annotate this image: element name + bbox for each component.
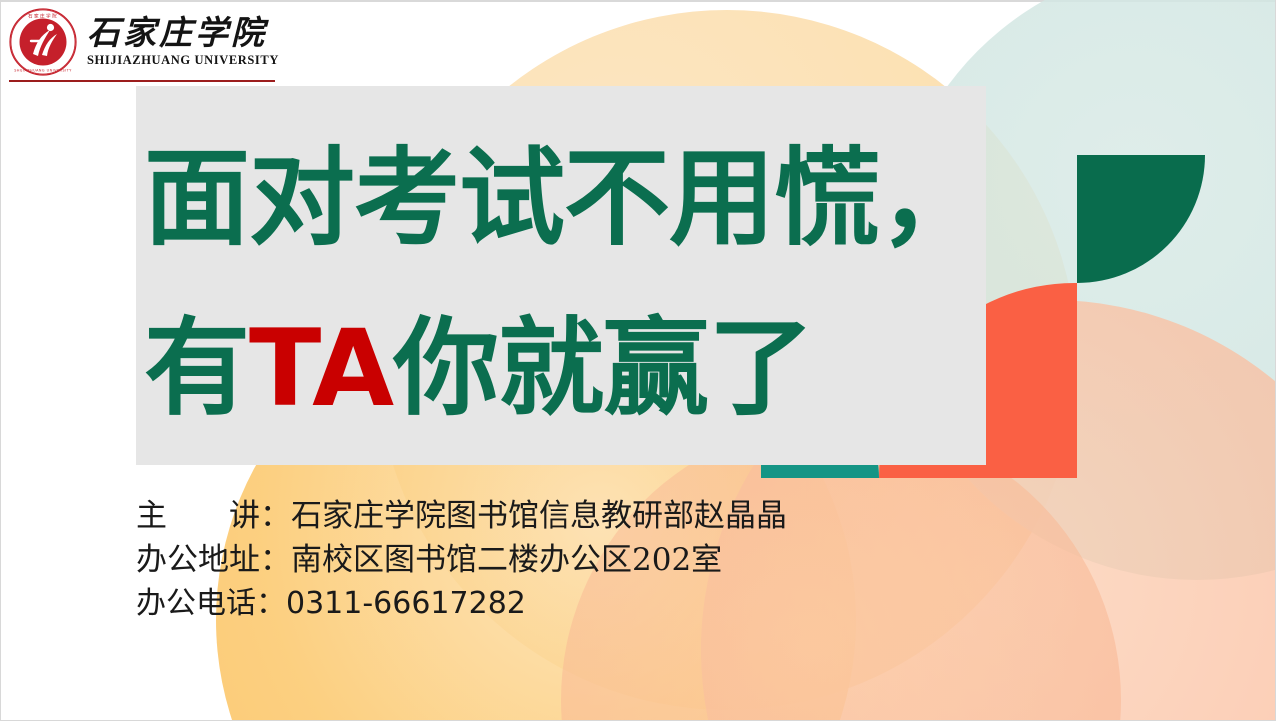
headline-suffix: 你就赢了: [393, 307, 813, 430]
university-seal-icon: 石家庄学院 SHIJIAZHUANG UNIVERSITY: [9, 8, 77, 76]
info-line-phone: 办公电话：0311-66617282: [136, 582, 996, 626]
info-line-address: 办公地址：南校区图书馆二楼办公区202室: [136, 538, 996, 582]
svg-text:SHIJIAZHUANG UNIVERSITY: SHIJIAZHUANG UNIVERSITY: [14, 69, 72, 73]
headline-line-2: 有TA你就赢了: [136, 316, 994, 422]
headline-prefix: 有: [144, 307, 249, 430]
university-name-cn: 石家庄学院: [87, 18, 279, 51]
university-wordmark: 石家庄学院 SHIJIAZHUANG UNIVERSITY: [87, 18, 279, 67]
speaker-info-block: 主 讲：石家庄学院图书馆信息教研部赵晶晶 办公地址：南校区图书馆二楼办公区202…: [136, 494, 996, 626]
university-logo: 石家庄学院 SHIJIAZHUANG UNIVERSITY 石家庄学院 SHIJ…: [9, 6, 271, 78]
info-line-speaker: 主 讲：石家庄学院图书馆信息教研部赵晶晶: [136, 494, 996, 538]
university-name-en: SHIJIAZHUANG UNIVERSITY: [87, 54, 279, 67]
decor-quarter-disc-green: [1077, 155, 1205, 283]
slide-top-border: [1, 0, 1276, 2]
headline-line-1: 面对考试不用慌，: [136, 146, 994, 252]
logo-underline: [9, 80, 275, 82]
headline-accent-ta: TA: [249, 307, 393, 430]
svg-text:石家庄学院: 石家庄学院: [28, 13, 58, 20]
headline-panel: 面对考试不用慌， 有TA你就赢了: [136, 86, 986, 465]
presentation-slide: 石家庄学院 SHIJIAZHUANG UNIVERSITY 石家庄学院 SHIJ…: [0, 0, 1276, 721]
